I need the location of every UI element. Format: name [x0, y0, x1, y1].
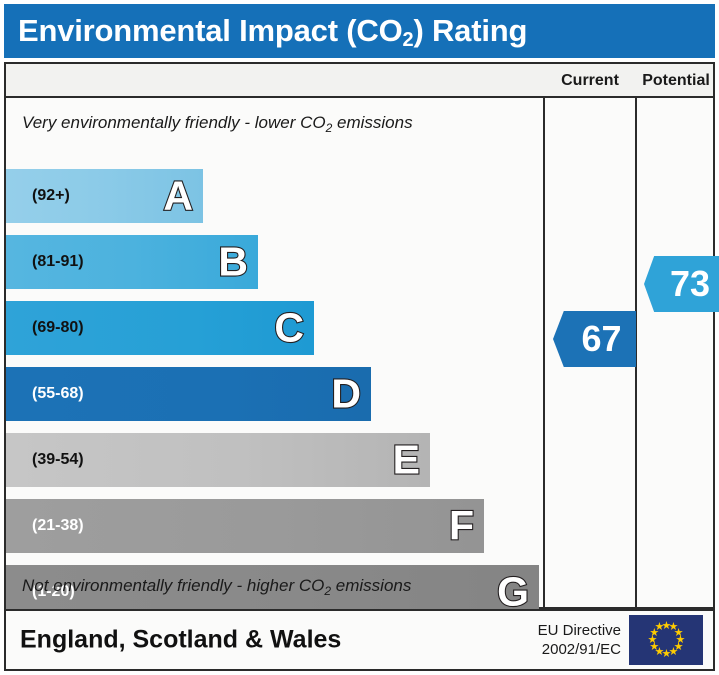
chart-title-bar: Environmental Impact (CO2) Rating — [4, 4, 715, 58]
band-letter-f: F — [449, 506, 474, 547]
page-title-subscript: 2 — [403, 29, 414, 51]
caption-bottom: Not environmentally friendly - higher CO… — [22, 576, 411, 596]
caption-top-suffix: emissions — [332, 113, 412, 132]
band-letter-b: B — [218, 242, 248, 283]
caption-bottom-prefix: Not environmentally friendly - higher CO — [22, 576, 324, 595]
chart-footer: England, Scotland & Wales EU Directive 2… — [4, 609, 715, 671]
rating-band-b: (81-91) B — [6, 235, 258, 289]
band-letter-d: D — [331, 374, 361, 415]
rating-band-d: (55-68) D — [6, 367, 371, 421]
rating-bands: (92+) A (81-91) B (69-80) C (55-68) D (3… — [6, 169, 543, 578]
band-range-a: (92+) — [32, 187, 70, 205]
footer-directive-line2: 2002/91/EC — [538, 640, 621, 659]
epc-environmental-impact-chart: Environmental Impact (CO2) Rating Curren… — [0, 0, 719, 675]
page-title-suffix: ) Rating — [413, 13, 527, 48]
rating-table: Current Potential Very environmentally f… — [4, 62, 715, 609]
eu-flag-icon: ★★★★★★★★★★★★ — [629, 615, 703, 665]
caption-top-prefix: Very environmentally friendly - lower CO — [22, 113, 326, 132]
band-range-b: (81-91) — [32, 253, 84, 271]
potential-rating-badge: 73 — [644, 256, 719, 312]
band-range-f: (21-38) — [32, 517, 84, 535]
column-header-current: Current — [545, 64, 635, 98]
footer-region-label: England, Scotland & Wales — [20, 626, 341, 655]
footer-directive: EU Directive 2002/91/EC — [538, 621, 621, 659]
column-header-potential: Potential — [637, 64, 715, 98]
caption-bottom-subscript: 2 — [324, 584, 331, 598]
page-title-prefix: Environmental Impact (CO — [18, 13, 403, 48]
band-range-e: (39-54) — [32, 451, 84, 469]
rating-band-a: (92+) A — [6, 169, 203, 223]
current-rating-badge: 67 — [553, 311, 636, 367]
band-letter-g: G — [497, 572, 529, 613]
table-header-row: Current Potential — [6, 64, 713, 98]
rating-band-e: (39-54) E — [6, 433, 430, 487]
band-letter-a: A — [163, 176, 193, 217]
band-range-d: (55-68) — [32, 385, 84, 403]
eu-star-icon: ★ — [655, 623, 664, 632]
caption-bottom-suffix: emissions — [331, 576, 411, 595]
rating-band-f: (21-38) F — [6, 499, 484, 553]
caption-top-subscript: 2 — [326, 121, 333, 135]
page-title: Environmental Impact (CO2) Rating — [18, 13, 527, 49]
band-letter-c: C — [274, 308, 304, 349]
caption-top: Very environmentally friendly - lower CO… — [22, 113, 413, 133]
band-chart-column: Very environmentally friendly - lower CO… — [6, 98, 543, 607]
column-divider-current — [543, 64, 545, 607]
footer-directive-line1: EU Directive — [538, 621, 621, 640]
band-range-c: (69-80) — [32, 319, 84, 337]
rating-band-c: (69-80) C — [6, 301, 314, 355]
band-letter-e: E — [393, 440, 420, 481]
